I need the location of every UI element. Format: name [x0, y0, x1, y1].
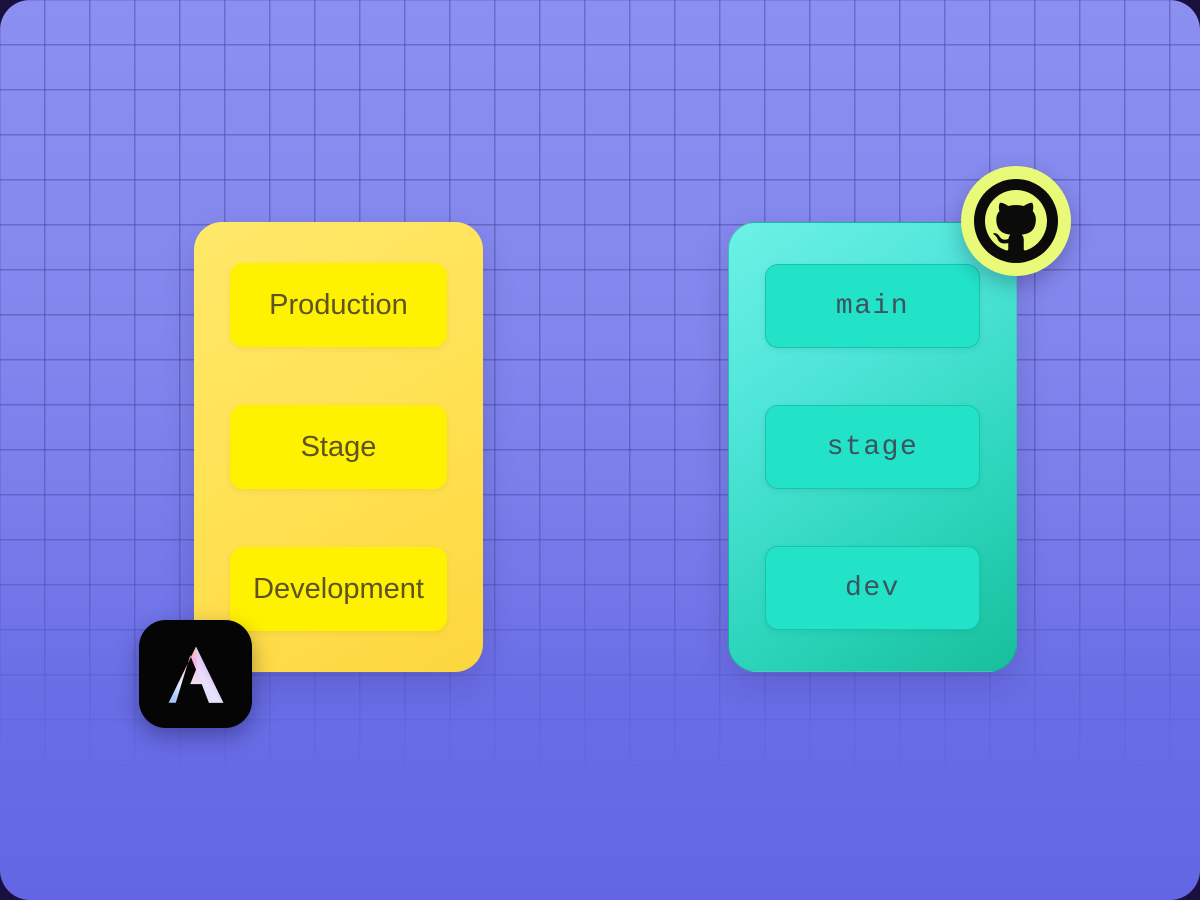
- adobe-experience-manager-icon: [160, 638, 232, 710]
- branch-item-stage[interactable]: stage: [765, 405, 980, 489]
- branch-item-main[interactable]: main: [765, 264, 980, 348]
- github-disc: [974, 179, 1058, 263]
- diagram-canvas: Production Stage Development main stage …: [0, 0, 1200, 900]
- environment-item-development[interactable]: Development: [230, 547, 447, 631]
- github-badge[interactable]: [961, 166, 1071, 276]
- git-branch-card[interactable]: main stage dev: [728, 222, 1017, 672]
- aem-environment-card[interactable]: Production Stage Development: [194, 222, 483, 672]
- diagram-stage: Production Stage Development main stage …: [0, 0, 1200, 900]
- branch-item-dev[interactable]: dev: [765, 546, 980, 630]
- environment-item-stage[interactable]: Stage: [230, 405, 447, 489]
- github-icon: [985, 190, 1047, 252]
- background-grid: [0, 0, 1200, 900]
- adobe-experience-manager-badge[interactable]: [139, 620, 252, 728]
- environment-item-production[interactable]: Production: [230, 263, 447, 347]
